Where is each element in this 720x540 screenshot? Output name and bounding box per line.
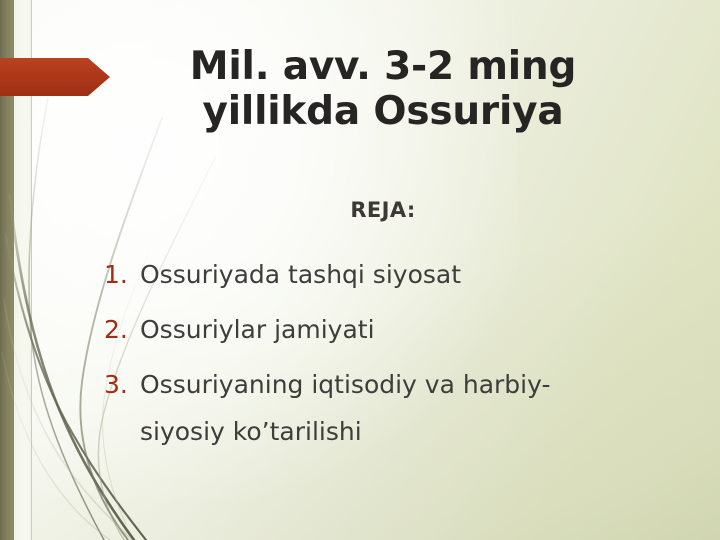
list-item-text: Ossuriyada tashqi siyosat [140,258,684,291]
list-item: 2. Ossuriylar jamiyati [104,313,684,346]
slide-title: Mil. avv. 3-2 ming yillikda Ossuriya [96,44,670,134]
slide-title-line-2: yillikda Ossuriya [96,89,670,134]
list-item: 1. Ossuriyada tashqi siyosat [104,258,684,291]
slide-content: Mil. avv. 3-2 ming yillikda Ossuriya REJ… [0,0,720,540]
agenda-list: 1. Ossuriyada tashqi siyosat 2. Ossuriyl… [104,258,684,470]
list-item: 3. Ossuriyaning iqtisodiy va harbiy- siy… [104,368,684,448]
slide-title-line-1: Mil. avv. 3-2 ming [96,44,670,89]
list-item-number: 1. [104,258,140,291]
slide-canvas: Mil. avv. 3-2 ming yillikda Ossuriya REJ… [0,0,720,540]
list-item-text: Ossuriyaning iqtisodiy va harbiy- siyosi… [140,368,684,448]
list-item-text-line-2: siyosiy ko’tarilishi [140,415,684,448]
list-item-number: 3. [104,368,140,401]
list-item-number: 2. [104,313,140,346]
list-item-text: Ossuriylar jamiyati [140,313,684,346]
list-item-text-line-1: Ossuriyaning iqtisodiy va harbiy- [140,370,551,399]
section-heading: REJA: [96,198,670,222]
